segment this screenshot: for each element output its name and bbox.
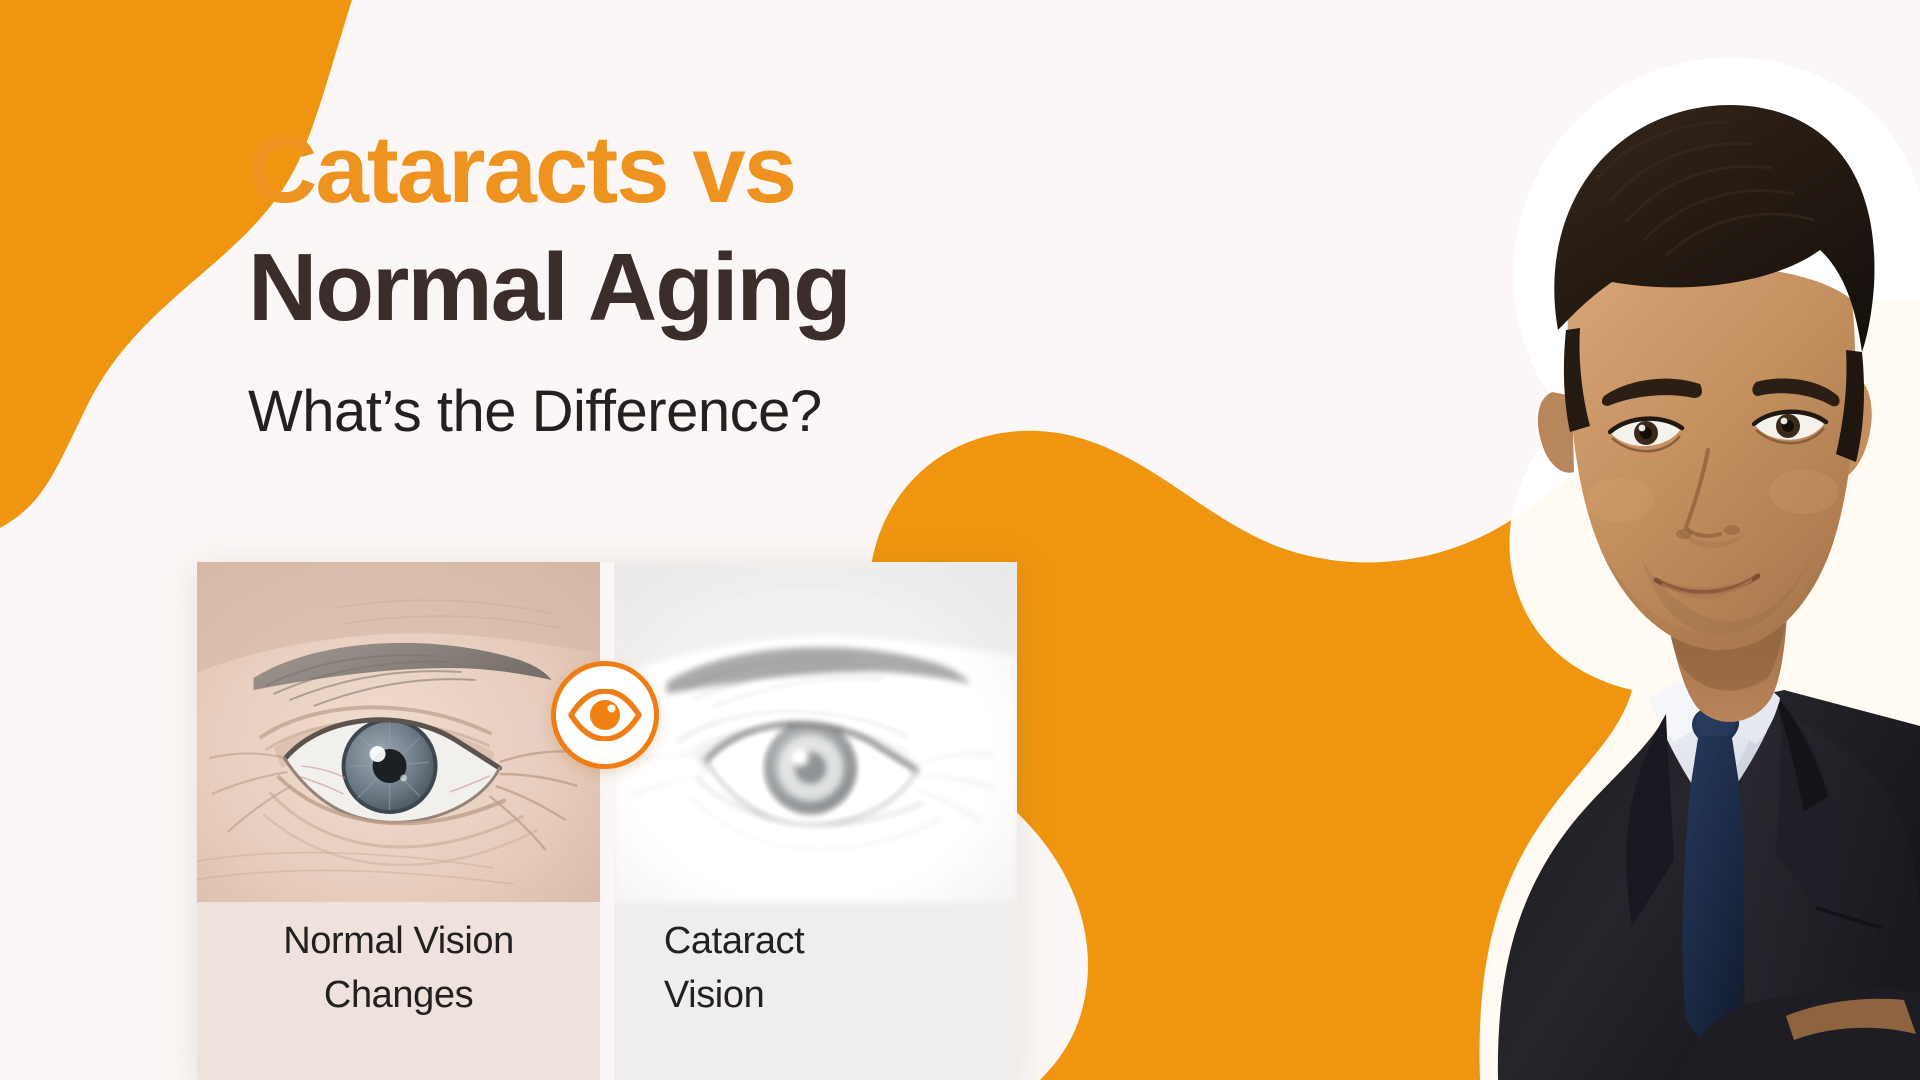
comparison-card-normal: Normal Vision Changes <box>197 562 600 1080</box>
cataract-vision-caption: Cataract Vision <box>664 914 984 1022</box>
cataract-eye-photo <box>614 562 1017 902</box>
comparison-panel: Normal Vision Changes <box>197 562 1017 1080</box>
panel-divider <box>600 562 614 1080</box>
normal-vision-caption: Normal Vision Changes <box>197 914 600 1022</box>
headline-block: Cataracts vs Normal Aging What’s the Dif… <box>248 118 1128 444</box>
caption-line-2: Changes <box>324 974 473 1016</box>
thumbnail-canvas: Cataracts vs Normal Aging What’s the Dif… <box>0 0 1920 1080</box>
eye-badge <box>551 661 659 769</box>
caption-line-1: Normal Vision <box>283 920 514 962</box>
page-title-line-2: Normal Aging <box>248 236 1128 340</box>
page-subtitle: What’s the Difference? <box>248 380 1128 444</box>
normal-eye-photo <box>197 562 600 902</box>
caption-line-1: Cataract <box>664 920 804 962</box>
eye-icon <box>567 689 643 741</box>
comparison-card-cataract: Cataract Vision <box>614 562 1017 1080</box>
page-title-line-1: Cataracts vs <box>248 118 1128 222</box>
caption-line-2: Vision <box>664 974 764 1016</box>
doctor-portrait <box>1180 0 1920 1080</box>
